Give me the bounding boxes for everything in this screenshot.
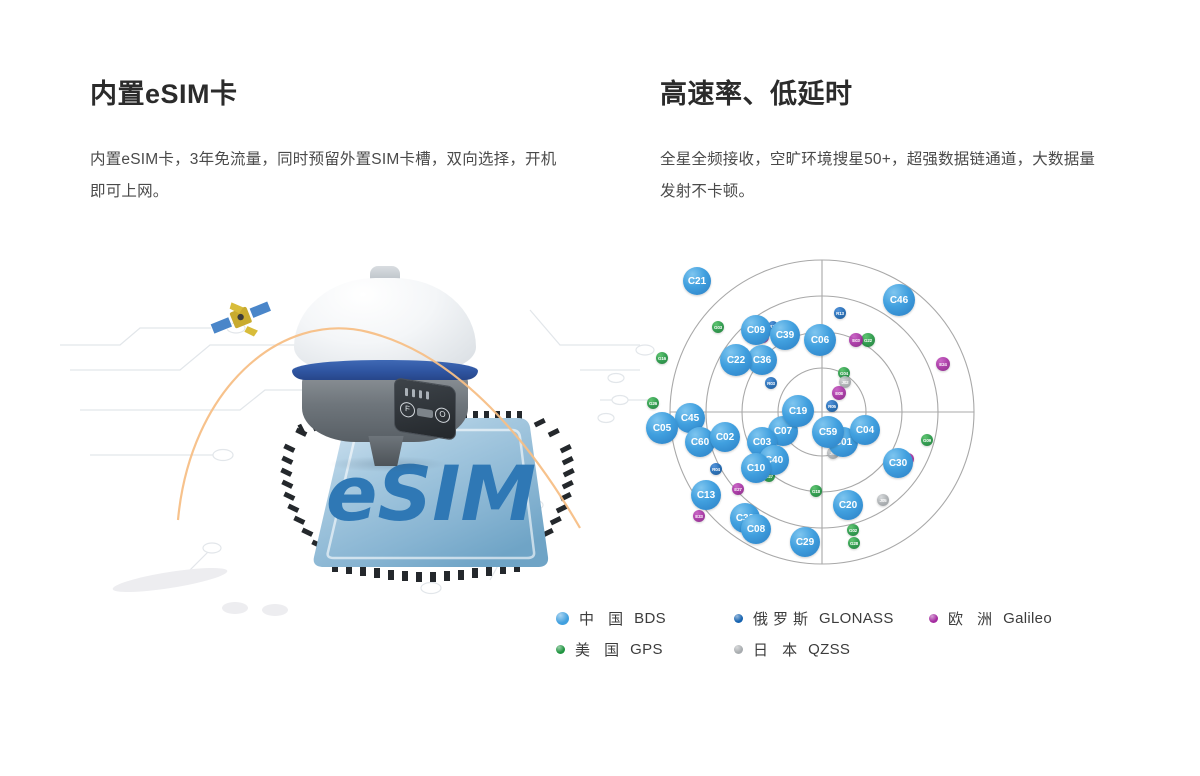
satellite-c30[interactable]: C30 [883,448,913,478]
esim-illustration: eSIM F O [60,250,660,630]
satellite-c09[interactable]: C09 [741,315,771,345]
satellite-c04[interactable]: C04 [850,415,880,445]
satellite-c20[interactable]: C20 [833,490,863,520]
promo-page: 内置eSIM卡 内置eSIM卡，3年免流量，同时预留外置SIM卡槽，双向选择，开… [0,0,1200,776]
legend-dot-galileo [929,614,938,623]
satellite-c08[interactable]: C08 [741,514,771,544]
legend-dot-bds [556,612,569,625]
legend-item-glonass[interactable]: 俄罗斯 GLONASS [734,608,929,629]
satellite-r13[interactable]: R13 [834,307,846,319]
right-text-column: 高速率、低延时 全星全频接收，空旷环境搜星50+，超强数据链通道，大数据量发射不… [660,78,1100,208]
satellite-e33[interactable]: E33 [693,510,705,522]
right-heading: 高速率、低延时 [660,78,1100,110]
satellite-c46[interactable]: C46 [883,284,915,316]
legend-dot-gps [556,645,565,654]
satellite-e03[interactable]: E03 [849,333,863,347]
satellite-g18[interactable]: G18 [810,485,822,497]
satellite-c13[interactable]: C13 [691,480,721,510]
legend-item-galileo[interactable]: 欧 洲 Galileo [929,608,1052,629]
legend-country-gps: 美 国 [575,639,624,660]
satellite-g28[interactable]: G28 [848,537,860,549]
satellite-c02[interactable]: C02 [710,422,740,452]
satellite-c29[interactable]: C29 [790,527,820,557]
satellite-g22[interactable]: G22 [861,333,875,347]
satellite-r03[interactable]: R03 [765,377,777,389]
legend-system-bds: BDS [634,610,666,627]
gnss-legend: 中 国 BDS 俄罗斯 GLONASS 欧 洲 Galileo 美 国 GPS [556,608,1096,670]
satellite-c59[interactable]: C59 [812,416,844,448]
satellite-c05[interactable]: C05 [646,412,678,444]
satellite-e24[interactable]: E24 [936,357,950,371]
legend-system-glonass: GLONASS [819,610,894,627]
satellite-c39[interactable]: C39 [770,320,800,350]
right-body-text: 全星全频接收，空旷环境搜星50+，超强数据链通道，大数据量发射不卡顿。 [660,144,1100,208]
satellite-g03[interactable]: G03 [712,321,724,333]
satellite-e08[interactable]: E08 [832,386,846,400]
legend-country-glonass: 俄罗斯 [753,608,813,629]
satellite-r05[interactable]: R05 [826,400,838,412]
legend-country-bds: 中 国 [579,608,628,629]
legend-dot-glonass [734,614,743,623]
satellite-r04[interactable]: R04 [710,463,722,475]
legend-item-qzss[interactable]: 日 本 QZSS [734,639,850,660]
satellite-g02[interactable]: G02 [847,524,859,536]
legend-system-gps: GPS [630,641,663,658]
left-text-column: 内置eSIM卡 内置eSIM卡，3年免流量，同时预留外置SIM卡槽，双向选择，开… [90,78,570,208]
satellite-g09[interactable]: G09 [921,434,933,446]
satellite-e27[interactable]: E27 [732,483,744,495]
orbiting-satellite-icon [208,292,274,344]
legend-item-bds[interactable]: 中 国 BDS [556,608,734,629]
legend-country-galileo: 欧 洲 [948,608,997,629]
legend-row-1: 中 国 BDS 俄罗斯 GLONASS 欧 洲 Galileo [556,608,1096,629]
satellite-c22[interactable]: C22 [720,344,752,376]
legend-system-qzss: QZSS [808,641,850,658]
legend-row-2: 美 国 GPS 日 本 QZSS [556,639,1096,660]
left-body-text: 内置eSIM卡，3年免流量，同时预留外置SIM卡槽，双向选择，开机即可上网。 [90,144,570,208]
satellite-j05[interactable]: J05 [877,494,889,506]
satellite-c21[interactable]: C21 [683,267,711,295]
legend-dot-qzss [734,645,743,654]
satellite-g26[interactable]: G26 [647,397,659,409]
legend-system-galileo: Galileo [1003,610,1052,627]
legend-country-qzss: 日 本 [753,639,802,660]
satellite-c19[interactable]: C19 [782,395,814,427]
legend-item-gps[interactable]: 美 国 GPS [556,639,734,660]
gnss-skyplot: G31G19R12G03G16G26G04G27G18G09G02G28R03R… [640,250,1020,580]
left-heading: 内置eSIM卡 [90,78,570,110]
satellite-g16[interactable]: G16 [656,352,668,364]
satellite-c06[interactable]: C06 [804,324,836,356]
satellite-c10[interactable]: C10 [741,453,771,483]
